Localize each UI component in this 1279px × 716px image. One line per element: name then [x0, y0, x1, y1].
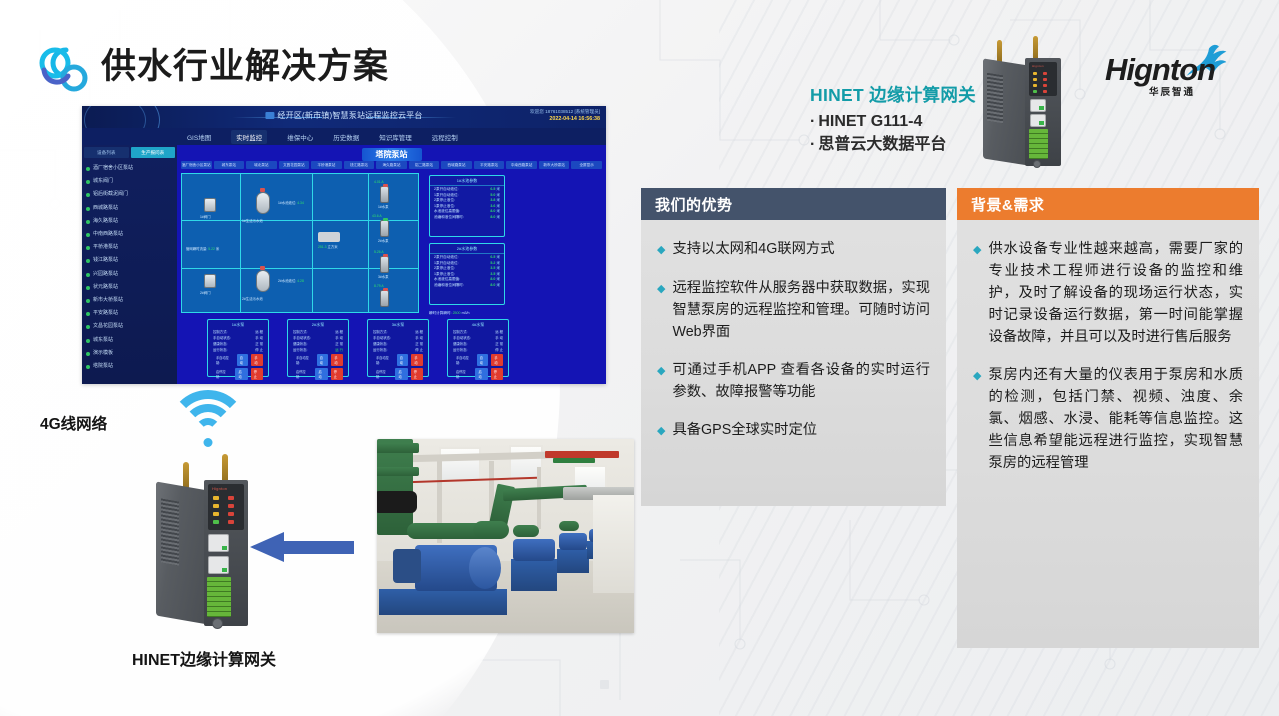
inlet-pressure-label: 管网瞬时流量: 5.22 米: [186, 246, 219, 251]
pool-2-level: 2#水池液位: 4.28: [278, 278, 304, 283]
scada-logo-icon: [265, 112, 274, 119]
pump-room-photo: [377, 439, 634, 633]
list-item[interactable]: 西城路泵站: [85, 202, 174, 215]
start-button[interactable]: 启动: [475, 368, 487, 380]
bullet-text: 具备GPS全球实时定位: [672, 419, 817, 442]
control-card-title: 3#水泵: [368, 322, 428, 328]
pool-1-label: 1#生活污水池: [242, 218, 263, 223]
panel-advantages-body: ◆ 支持以太网和4G联网方式 ◆ 远程监控软件从服务器中获取数据，实现智慧泵房的…: [641, 220, 946, 506]
scada-platform-screenshot: 经开区(新市镇)智慧泵站远程监控云平台 欢迎您 18761038512 [系统管…: [82, 106, 606, 384]
pump-symbol-3: [380, 256, 389, 273]
interlocking-circles-logo-icon: [34, 38, 96, 98]
bullet-text: 供水设备专业性越来越高，需要厂家的专业技术工程师进行设备的监控和维护，及时了解设…: [988, 238, 1243, 348]
scada-nav-gis[interactable]: GIS地图: [187, 132, 211, 142]
product-bullet-1-label: HINET G111-4: [818, 113, 922, 130]
panel-background: 背景&需求 ◆ 供水设备专业性越来越高，需要厂家的专业技术工程师进行设备的监控和…: [957, 188, 1259, 648]
auto-button[interactable]: 自动: [237, 354, 249, 366]
start-button[interactable]: 启动: [235, 368, 247, 380]
control-buttons: 启停控制:启动停止: [448, 367, 508, 381]
tab-item[interactable]: 海久路泵站: [376, 161, 407, 169]
pump-2-current: 43.6 A: [372, 214, 382, 218]
pump-control-card-2[interactable]: 2#水泵 控制方式:远 程 手自动状态:手 动 健康状态:正 常 运行状态:运 …: [287, 319, 349, 377]
panel-background-title: 背景&需求: [957, 188, 1259, 220]
scada-station-tabs[interactable]: 酒厂宿舍小区泵站 城东泵站 城北泵站 文昌花园泵站 平桥港泵站 钱江路泵站 海久…: [181, 161, 602, 169]
scada-decor-arc: [84, 106, 146, 128]
list-item[interactable]: 中南西路泵站: [85, 228, 174, 241]
control-buttons: 启停控制:启动停止: [288, 367, 348, 381]
bullet-text: 泵房内还有大量的仪表用于泵房和水质的检测，包括门禁、视频、浊度、余氯、烟感、水浸…: [988, 364, 1243, 474]
manual-button[interactable]: 手动: [411, 354, 423, 366]
list-item: ◆ 支持以太网和4G联网方式: [657, 238, 930, 261]
bullet-text: 可通过手机APP 查看各设备的实时运行参数、故障报警等功能: [672, 359, 930, 403]
list-item: ◆ 具备GPS全球实时定位: [657, 419, 930, 442]
param-row: 池塘和液位间隔时:8.0 米: [430, 283, 504, 289]
list-item[interactable]: 状元路泵站: [85, 281, 174, 294]
manual-button[interactable]: 手动: [491, 354, 503, 366]
param-card-pool-2: 2#水池参数 2泵开自动液位:6.5 米 1泵开自动液位:5.2 米 2泵停止液…: [429, 243, 505, 305]
bullet-text: 支持以太网和4G联网方式: [672, 238, 834, 261]
manual-button[interactable]: 手动: [251, 354, 263, 366]
product-callout: HINET 边缘计算网关 ·HINET G111-4 ·思普云大数据平台: [810, 82, 976, 156]
pool-symbol-2: [256, 270, 270, 292]
bullet-text: 远程监控软件从服务器中获取数据，实现智慧泵房的远程监控和管理。可随时访问Web界…: [672, 277, 930, 343]
stop-button[interactable]: 停止: [411, 368, 423, 380]
start-button[interactable]: 启动: [315, 368, 327, 380]
tab-item[interactable]: 中南西路泵站: [506, 161, 537, 169]
pump-control-card-1[interactable]: 1#水泵 控制方式:远 程 手自动状态:手 动 健康状态:正 常 运行状态:停 …: [207, 319, 269, 377]
list-item: ◆ 供水设备专业性越来越高，需要厂家的专业技术工程师进行设备的监控和维护，及时了…: [973, 238, 1243, 348]
scada-nav-realtime[interactable]: 实时监控: [231, 130, 267, 144]
scada-process-diagram: 1#阀门 2#阀门 管网瞬时流量: 5.22 米 1#生活污水池 1#水池液位:…: [181, 173, 419, 313]
param-card-pool-1: 1#水池参数 2泵开自动液位:6.5 米 1泵开自动液位:5.0 米 2泵停止液…: [429, 175, 505, 237]
list-item[interactable]: 平安路泵站: [85, 307, 174, 320]
start-button[interactable]: 启动: [395, 368, 407, 380]
scada-platform-title-text: 经开区(新市镇)智慧泵站远程监控云平台: [277, 111, 422, 120]
tab-item[interactable]: 全屏显示: [571, 161, 602, 169]
tab-item[interactable]: 平桥港泵站: [311, 161, 342, 169]
product-bullet-2: ·思普云大数据平台: [810, 133, 976, 156]
list-item[interactable]: 城东泵站: [85, 334, 174, 347]
pump-1-label: 1#水泵: [378, 204, 389, 209]
edge-gateway-device-image-top: Hignton: [975, 36, 1085, 170]
list-item[interactable]: 新市大桥泵站: [85, 294, 174, 307]
scada-station-title: 塔院泵站: [362, 148, 422, 161]
scada-nav-history[interactable]: 历史数据: [333, 132, 359, 142]
tab-item[interactable]: 酒厂宿舍小区泵站: [181, 161, 212, 169]
instant-flow-readout: 瞬时计算瞬时: 2500 m3/h: [429, 311, 470, 316]
param-card-title: 2#水池参数: [430, 246, 504, 254]
valve-symbol-1: [204, 198, 216, 212]
control-buttons: 手自动控制:自动手动: [368, 353, 428, 367]
product-heading: HINET 边缘计算网关: [810, 82, 976, 107]
scada-tab-production-report[interactable]: 生产报问表: [131, 147, 176, 158]
pump-1-current: 4.01 A: [374, 180, 384, 184]
auto-button[interactable]: 自动: [317, 354, 329, 366]
scada-nav-remote[interactable]: 远程控制: [432, 132, 458, 142]
scada-user-label: 欢迎您 18761038512 [系统管理员]: [530, 108, 600, 115]
bullet-diamond-icon: ◆: [973, 365, 981, 474]
valve-symbol-2: [204, 274, 216, 288]
pool-2-label: 2#生活污水池: [242, 296, 263, 301]
pool-symbol-1: [256, 192, 270, 214]
list-item[interactable]: 海久路泵站: [85, 215, 174, 228]
bullet-diamond-icon: ◆: [657, 278, 665, 343]
scada-platform-title: 经开区(新市镇)智慧泵站远程监控云平台: [265, 110, 422, 121]
tab-item[interactable]: 平安路泵站: [474, 161, 505, 169]
bullet-diamond-icon: ◆: [657, 420, 665, 442]
scada-nav-maintenance[interactable]: 维保中心: [287, 132, 313, 142]
list-item: ◆ 泵房内还有大量的仪表用于泵房和水质的检测，包括门禁、视频、浊度、余氯、烟感、…: [973, 364, 1243, 474]
pump-control-card-4[interactable]: 4#水泵 控制方式:远 程 手自动状态:手 动 健康状态:正 常 运行状态:停 …: [447, 319, 509, 377]
pump-symbol-1: [380, 186, 389, 203]
bullet-diamond-icon: ◆: [657, 239, 665, 261]
bullet-marker-icon: ·: [810, 113, 815, 130]
list-item[interactable]: 演示模板: [85, 347, 174, 360]
scada-device-list[interactable]: 酒厂宿舍小区泵站 城东阀门 铝后街截泥阀门 西城路泵站 海久路泵站 中南西路泵站…: [82, 162, 177, 373]
control-card-title: 2#水泵: [288, 322, 348, 328]
control-card-title: 4#水泵: [448, 322, 508, 328]
edge-gateway-device-image-main: Hignton: [150, 440, 262, 630]
list-item[interactable]: 钱江路泵站: [85, 254, 174, 267]
list-item[interactable]: 酒厂宿舍小区泵站: [85, 162, 174, 175]
control-buttons: 启停控制:启动停止: [208, 367, 268, 381]
gateway-label: HINET边缘计算网关: [132, 646, 276, 670]
list-item[interactable]: 塔院泵站: [85, 360, 174, 373]
brand-wordmark-cn: 华辰智通: [1149, 84, 1195, 98]
stop-button[interactable]: 停止: [491, 368, 503, 380]
scada-timestamp: 2022-04-14 16:56:38: [530, 115, 600, 123]
network-label: 4G线网络: [40, 412, 107, 434]
panel-advantages-title: 我们的优势: [641, 188, 946, 220]
pump-symbol-2: [380, 220, 389, 237]
left-arrow-icon: [250, 532, 354, 562]
pool-1-level: 1#水池液位: 4.34: [278, 200, 304, 205]
pump-3-label: 3#水泵: [378, 274, 389, 279]
scada-topbar: 经开区(新市镇)智慧泵站远程监控云平台 欢迎您 18761038512 [系统管…: [82, 106, 606, 128]
bullet-diamond-icon: ◆: [973, 239, 981, 348]
auto-button[interactable]: 自动: [477, 354, 489, 366]
tab-item[interactable]: 西城路泵站: [441, 161, 472, 169]
tab-item[interactable]: 钱江路泵站: [344, 161, 375, 169]
list-item: ◆ 远程监控软件从服务器中获取数据，实现智慧泵房的远程监控和管理。可随时访问We…: [657, 277, 930, 343]
list-item[interactable]: 城东阀门: [85, 175, 174, 188]
param-card-title: 1#水池参数: [430, 178, 504, 186]
stop-button[interactable]: 停止: [331, 368, 343, 380]
control-card-title: 1#水泵: [208, 322, 268, 328]
tab-item[interactable]: 城北泵站: [246, 161, 277, 169]
control-buttons: 手自动控制:自动手动: [448, 353, 508, 367]
list-item: ◆ 可通过手机APP 查看各设备的实时运行参数、故障报警等功能: [657, 359, 930, 403]
auto-button[interactable]: 自动: [397, 354, 409, 366]
panel-advantages: 我们的优势 ◆ 支持以太网和4G联网方式 ◆ 远程监控软件从服务器中获取数据，实…: [641, 188, 946, 506]
brand-logo: Hignton 华辰智通: [1105, 36, 1253, 102]
pump-2-label: 2#水泵: [378, 238, 389, 243]
scada-nav-knowledge[interactable]: 知识库管理: [379, 132, 412, 142]
page-header: 供水行业解决方案: [0, 0, 1279, 104]
tab-item[interactable]: 城东泵站: [214, 161, 245, 169]
control-buttons: 手自动控制:自动手动: [288, 353, 348, 367]
control-buttons: 手自动控制:自动手动: [208, 353, 268, 367]
flow-meter-label: 251.3 立方米: [318, 244, 338, 249]
stop-button[interactable]: 停止: [251, 368, 263, 380]
list-item[interactable]: 兴园路泵站: [85, 268, 174, 281]
bullet-marker-icon: ·: [810, 136, 815, 153]
brand-wordmark: Hignton: [1105, 52, 1215, 88]
tab-item[interactable]: 文昌花园泵站: [279, 161, 310, 169]
list-item[interactable]: 平桥港泵站: [85, 241, 174, 254]
list-item[interactable]: 文昌花园泵站: [85, 320, 174, 333]
tab-item[interactable]: 新市大桥泵站: [539, 161, 570, 169]
scada-user-info: 欢迎您 18761038512 [系统管理员] 2022-04-14 16:56…: [530, 108, 600, 123]
panel-background-body: ◆ 供水设备专业性越来越高，需要厂家的专业技术工程师进行设备的监控和维护，及时了…: [957, 220, 1259, 648]
control-buttons: 启停控制:启动停止: [368, 367, 428, 381]
valve-2-label: 2#阀门: [200, 290, 211, 295]
valve-1-label: 1#阀门: [200, 214, 211, 219]
scada-sidebar-tabs[interactable]: 设备列表 生产报问表: [84, 147, 175, 158]
tab-item[interactable]: 铝二路泵站: [409, 161, 440, 169]
scada-sidebar: 设备列表 生产报问表 酒厂宿舍小区泵站 城东阀门 铝后街截泥阀门 西城路泵站 海…: [82, 145, 177, 384]
pump-control-card-3[interactable]: 3#水泵 控制方式:远 程 手自动状态:手 动 健康状态:正 常 运行状态:停 …: [367, 319, 429, 377]
param-row: 池塘和液位间隔时:8.0 米: [430, 215, 504, 221]
list-item[interactable]: 铝后街截泥阀门: [85, 188, 174, 201]
product-bullet-1: ·HINET G111-4: [810, 110, 976, 133]
pump-symbol-4: [380, 290, 389, 307]
scada-main-view: 塔院泵站 酒厂宿舍小区泵站 城东泵站 城北泵站 文昌花园泵站 平桥港泵站 钱江路…: [177, 145, 606, 384]
bullet-diamond-icon: ◆: [657, 360, 665, 403]
scada-tab-device-list[interactable]: 设备列表: [84, 147, 129, 158]
page-title: 供水行业解决方案: [101, 38, 389, 89]
manual-button[interactable]: 手动: [331, 354, 343, 366]
pump-4-current: 8.79 A: [374, 284, 384, 288]
scada-navbar[interactable]: GIS地图 实时监控 维保中心 历史数据 知识库管理 远程控制: [82, 128, 606, 145]
pump-3-current: 5.26 A: [374, 250, 384, 254]
product-bullet-2-label: 思普云大数据平台: [818, 136, 946, 153]
